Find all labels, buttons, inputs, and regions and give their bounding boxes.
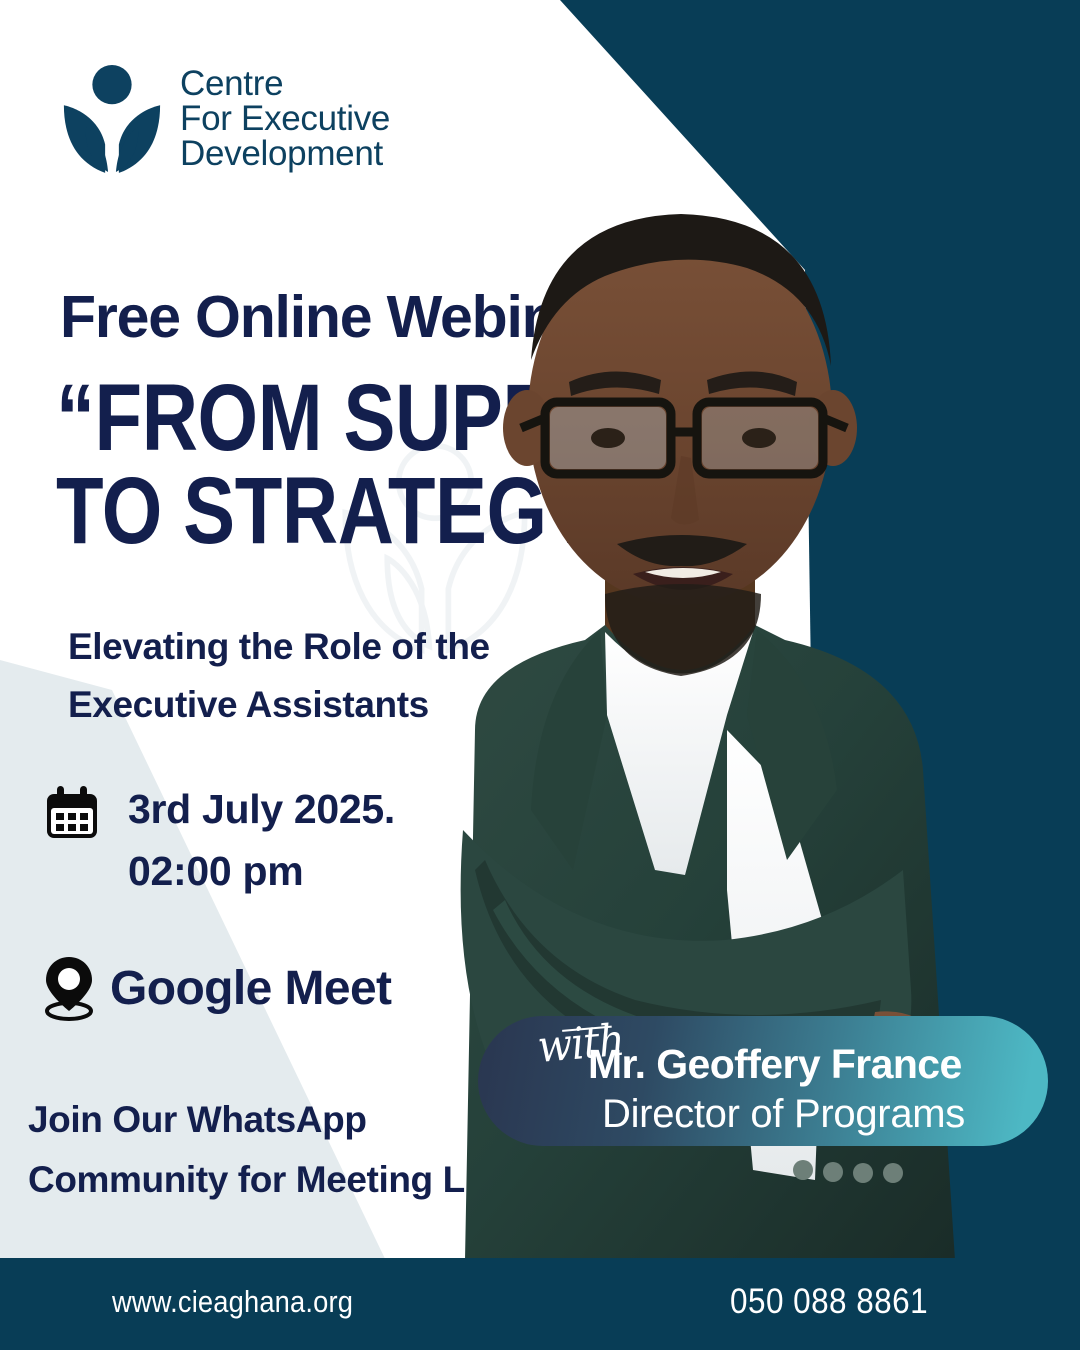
location-pin-icon [42, 955, 96, 1021]
calendar-icon [42, 784, 102, 844]
venue-text: Google Meet [110, 961, 391, 1016]
speaker-badge: with Mr. Geoffery France Director of Pro… [478, 1016, 1048, 1146]
footer-website[interactable]: www.cieaghana.org [112, 1284, 353, 1320]
person-plant-logo-icon [58, 62, 166, 174]
webinar-flyer: Centre For Executive Development Free On… [0, 0, 1080, 1350]
logo-line-2: For Executive [180, 101, 390, 136]
date-time-block: 3rd July 2025. 02:00 pm [42, 778, 395, 903]
venue-block: Google Meet [42, 955, 391, 1021]
brand-logo: Centre For Executive Development [58, 62, 390, 174]
logo-line-1: Centre [180, 66, 390, 101]
brand-wordmark: Centre For Executive Development [180, 66, 390, 171]
speaker-role: Director of Programs [602, 1092, 965, 1137]
logo-line-3: Development [180, 136, 390, 171]
footer-bar: www.cieaghana.org 050 088 8861 [0, 1258, 1080, 1350]
speaker-name: Mr. Geoffery France [588, 1041, 962, 1088]
footer-phone[interactable]: 050 088 8861 [730, 1282, 928, 1322]
